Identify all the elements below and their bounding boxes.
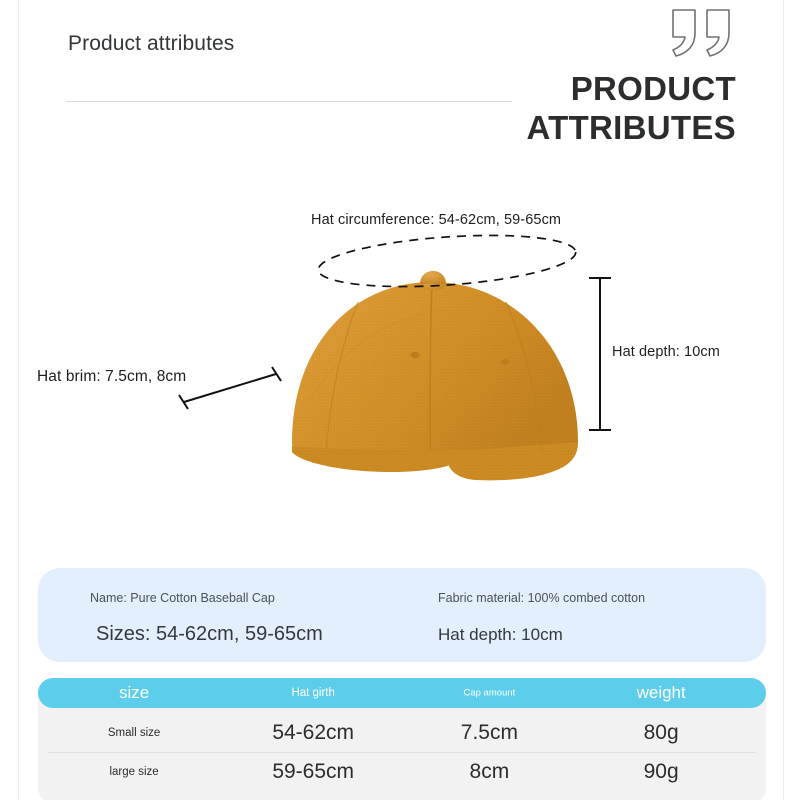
label-hat-brim: Hat brim: 7.5cm, 8cm bbox=[37, 368, 186, 386]
info-hat-depth: Hat depth: 10cm bbox=[438, 625, 563, 645]
info-product-name: Name: Pure Cotton Baseball Cap bbox=[90, 591, 275, 605]
cell-hat-girth: 54-62cm bbox=[272, 721, 354, 745]
table-row: large size 59-65cm 8cm 90g bbox=[38, 753, 766, 791]
label-hat-depth: Hat depth: 10cm bbox=[612, 344, 720, 360]
cell-size: large size bbox=[109, 766, 158, 778]
cell-hat-girth: 59-65cm bbox=[272, 760, 354, 784]
label-hat-circumference: Hat circumference: 54-62cm, 59-65cm bbox=[311, 212, 561, 228]
column-header-hat-girth: Hat girth bbox=[291, 687, 334, 699]
cell-cap-amount: 8cm bbox=[470, 760, 510, 784]
page-title-large-line1: PRODUCT bbox=[380, 70, 736, 109]
brim-measure-line bbox=[179, 367, 281, 409]
table-row: Small size 54-62cm 7.5cm 80g bbox=[38, 714, 766, 752]
cell-size: Small size bbox=[108, 727, 160, 739]
quote-marks-icon bbox=[669, 7, 739, 59]
info-sizes: Sizes: 54-62cm, 59-65cm bbox=[96, 623, 323, 646]
product-attributes-page: Product attributes PRODUCT ATTRIBUTES bbox=[0, 0, 800, 800]
column-header-size: size bbox=[119, 683, 149, 703]
spec-table: size Hat girth Cap amount weight Small s… bbox=[38, 678, 766, 800]
column-header-weight: weight bbox=[637, 683, 686, 703]
cell-weight: 90g bbox=[644, 760, 679, 784]
depth-measure-line bbox=[589, 278, 611, 430]
spec-table-body: Small size 54-62cm 7.5cm 80g large size … bbox=[38, 695, 766, 800]
baseball-cap-illustration bbox=[0, 150, 800, 520]
product-info-panel: Name: Pure Cotton Baseball Cap Fabric ma… bbox=[38, 568, 766, 662]
page-title-large-line2: ATTRIBUTES bbox=[380, 109, 736, 148]
cell-weight: 80g bbox=[644, 721, 679, 745]
spec-table-header-row: size Hat girth Cap amount weight bbox=[38, 678, 766, 708]
product-diagram: Hat circumference: 54-62cm, 59-65cm Hat … bbox=[0, 150, 800, 520]
page-title-large: PRODUCT ATTRIBUTES bbox=[380, 70, 736, 147]
column-header-cap-amount: Cap amount bbox=[463, 688, 515, 699]
page-title: Product attributes bbox=[68, 32, 234, 56]
info-fabric-material: Fabric material: 100% combed cotton bbox=[438, 591, 645, 605]
cell-cap-amount: 7.5cm bbox=[461, 721, 518, 745]
